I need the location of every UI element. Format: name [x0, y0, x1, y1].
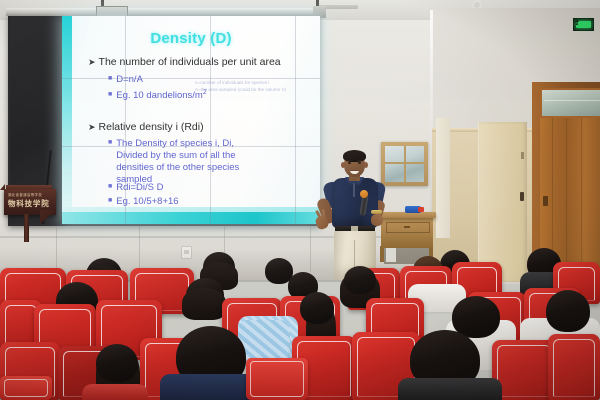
running-person-icon	[575, 20, 579, 25]
plaque-main-text: 物科技学院	[8, 198, 52, 209]
square-bullet-icon: ■	[108, 197, 112, 204]
projection-seam	[125, 16, 126, 224]
auditorium-seat[interactable]	[548, 334, 600, 400]
presenter-belt-buckle	[351, 226, 358, 231]
wood-grain	[566, 118, 567, 282]
emergency-exit-sign	[573, 18, 594, 31]
slide-bullet-level2: ■Eg. 10 dandelions/m2	[108, 89, 207, 101]
presenter	[316, 150, 394, 280]
door-transom-window	[540, 88, 600, 118]
slide-bullet-text: D=n/A	[116, 74, 143, 85]
presenter-eye	[348, 162, 351, 164]
slide-bullet-level1: ➤Relative density i (Rdi)	[88, 121, 204, 133]
door-handle-icon[interactable]	[543, 196, 548, 206]
auditorium-seat-cushion[interactable]	[0, 376, 52, 400]
presenter-eyebrow	[357, 160, 362, 161]
desk-drawer-knob[interactable]	[404, 226, 410, 228]
projection-seam	[62, 78, 320, 79]
slide-bottom-accent-bar	[62, 212, 320, 224]
slide-bullet-text: Rdi=Di/S D	[116, 182, 163, 193]
projection-seam	[210, 16, 211, 224]
square-bullet-icon: ■	[108, 183, 112, 190]
red-object-on-desk	[418, 207, 424, 212]
exit-sign-icon	[576, 21, 591, 28]
transom-glass-highlight	[544, 100, 600, 101]
wood-grain	[581, 118, 582, 282]
square-bullet-icon: ■	[108, 139, 112, 146]
audience-shoulders	[398, 378, 502, 400]
slide-bullet-text: Eg. 10 dandelions/m	[116, 90, 203, 101]
square-bullet-icon: ■	[108, 91, 112, 98]
slide-left-accent-bar	[62, 16, 72, 224]
presenter-hand-right	[371, 214, 383, 226]
projection-screen-rail	[6, 8, 322, 16]
audience-head	[300, 292, 334, 324]
arrow-bullet-icon: ➤	[88, 122, 96, 132]
audience-head	[546, 290, 590, 332]
door-beige[interactable]	[478, 122, 527, 282]
audience-head	[344, 266, 376, 294]
presenter-eyebrow	[347, 160, 352, 161]
projection-seam	[295, 16, 296, 224]
plaque-post	[24, 214, 29, 242]
auditorium-seat-cushion[interactable]	[246, 358, 308, 400]
slide-bullet-level2: ■Eg. 10/5+8+16	[108, 196, 179, 207]
arrow-bullet-icon: ➤	[88, 57, 96, 67]
lecture-hall-photo: Density (D) ➤The number of individuals p…	[0, 0, 600, 400]
presenter-shirt-placket	[353, 183, 355, 197]
window-mullion	[404, 146, 406, 182]
slide-bullet-text: Relative density i (Rdi)	[99, 121, 204, 133]
slide-bullet-level1: ➤The number of individuals per unit area	[88, 56, 281, 68]
wristwatch-icon	[371, 210, 382, 214]
projected-slide: Density (D) ➤The number of individuals p…	[62, 16, 320, 224]
door-hinge	[521, 152, 524, 159]
projection-seam	[62, 146, 320, 147]
slide-title: Density (D)	[62, 30, 320, 47]
presenter-ear	[364, 162, 368, 168]
audience-hair	[182, 288, 226, 320]
presenter-ear	[341, 162, 345, 168]
audience-head	[96, 344, 138, 382]
door-handle-icon[interactable]	[520, 192, 524, 201]
slide-bullet-level2: ■Rdi=Di/S D	[108, 182, 163, 193]
audience-shoulders	[82, 384, 148, 400]
plaque-small-text: 湖北省普通高等学校	[8, 192, 52, 197]
door-edge-far	[436, 118, 450, 238]
presenter-eye	[358, 162, 361, 164]
